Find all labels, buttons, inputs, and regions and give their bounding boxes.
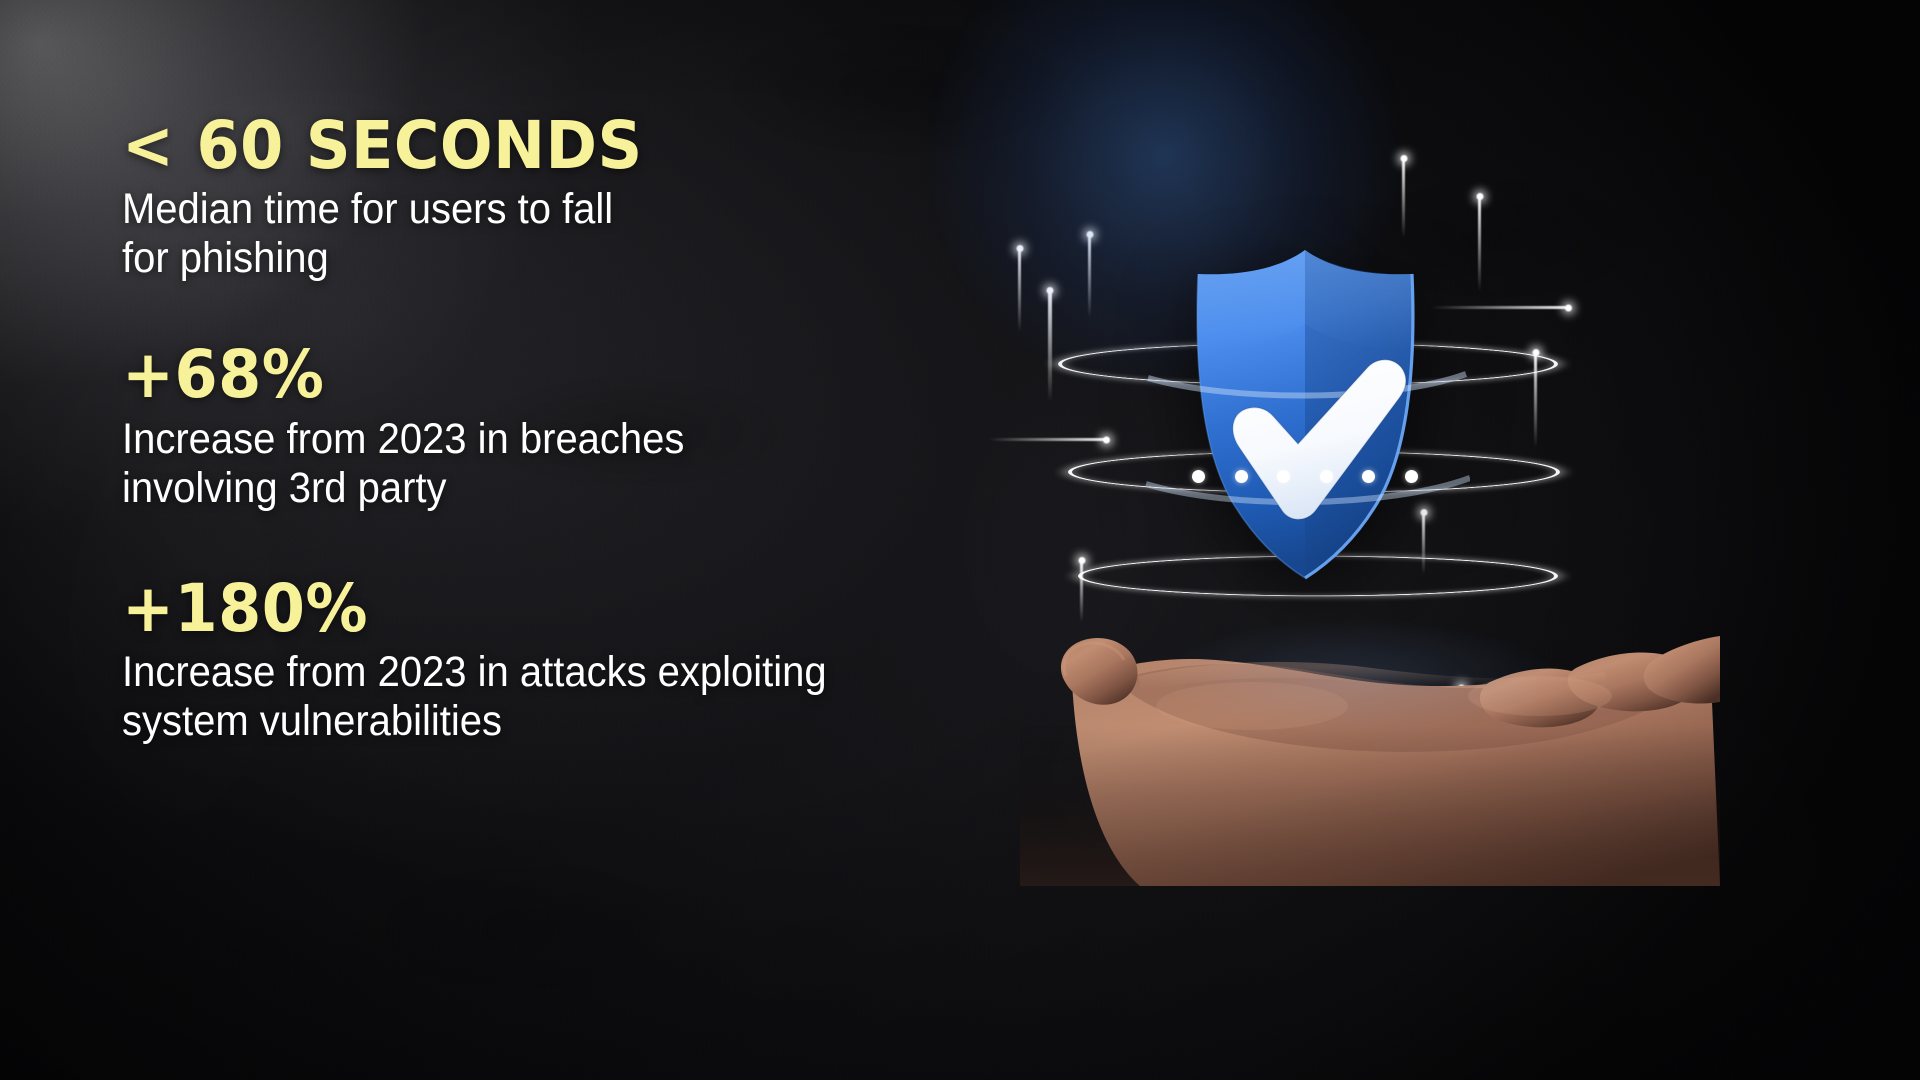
shield [1140, 246, 1470, 582]
infographic-slide: < 60 SECONDS Median time for users to fa… [0, 0, 1920, 1080]
stat-value-vulnerabilities: +180% [122, 575, 1015, 642]
shield-icon [1140, 246, 1470, 582]
hand-glow [1080, 556, 1640, 756]
dot-icon [1235, 470, 1248, 483]
dot-row [1192, 470, 1418, 483]
stat-description-third-party: Increase from 2023 in breaches involving… [122, 415, 1006, 513]
dot-icon [1277, 470, 1290, 483]
dot-icon [1362, 470, 1375, 483]
stat-block-phishing: < 60 SECONDS Median time for users to fa… [122, 112, 1072, 283]
stat-value-third-party: +68% [122, 341, 1015, 408]
dot-icon [1405, 470, 1418, 483]
light-streak-icon [1478, 196, 1481, 292]
stat-block-third-party: +68% Increase from 2023 in breaches invo… [122, 341, 1072, 512]
hand [1020, 556, 1720, 886]
light-streak-icon [1088, 234, 1091, 318]
dot-icon [1320, 470, 1333, 483]
light-streak-icon [1402, 158, 1405, 238]
stat-description-vulnerabilities: Increase from 2023 in attacks exploiting… [122, 648, 1006, 746]
stat-description-phishing: Median time for users to fall for phishi… [122, 185, 1006, 283]
stat-value-phishing: < 60 SECONDS [122, 112, 1015, 179]
shield-graphic [1000, 0, 1920, 1080]
statistics-column: < 60 SECONDS Median time for users to fa… [122, 112, 1072, 746]
dot-icon [1192, 470, 1205, 483]
stat-block-vulnerabilities: +180% Increase from 2023 in attacks expl… [122, 575, 1072, 746]
